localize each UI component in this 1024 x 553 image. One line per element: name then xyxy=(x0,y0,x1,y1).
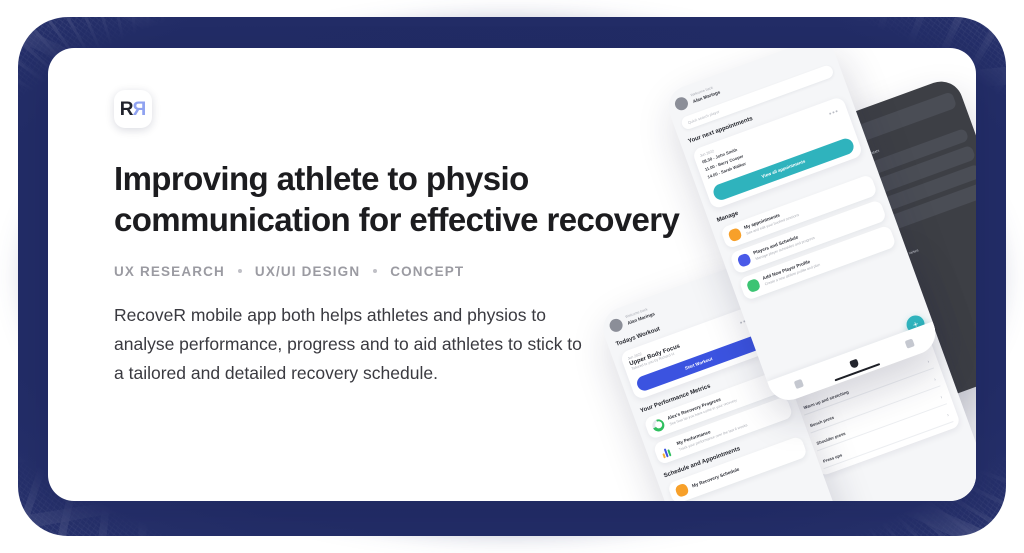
chevron-right-icon: › xyxy=(933,377,937,383)
project-description: RecoveR mobile app both helps athletes a… xyxy=(114,301,584,388)
recover-logo[interactable]: RR xyxy=(114,90,152,128)
copy-column: RR Improving athlete to physio communica… xyxy=(114,90,734,388)
profile-icon[interactable] xyxy=(904,339,914,349)
chat-icon[interactable] xyxy=(794,379,804,389)
logo-letter-left: R xyxy=(120,100,133,119)
progress-ring-icon xyxy=(651,418,666,433)
chevron-right-icon: › xyxy=(940,395,944,401)
tag-list: UX RESEARCH UX/UI DESIGN CONCEPT xyxy=(114,264,734,279)
players-icon xyxy=(737,253,752,268)
tag-concept: CONCEPT xyxy=(390,264,464,279)
tag-ux-ui-design: UX/UI DESIGN xyxy=(255,264,360,279)
exercise-label: Shoulder press xyxy=(816,431,846,446)
tag-ux-research: UX RESEARCH xyxy=(114,264,225,279)
list-item-label: My Recovery Schedule xyxy=(691,466,740,490)
home-icon[interactable] xyxy=(849,359,859,369)
exercise-label: Press ups xyxy=(822,452,843,464)
logo-letter-right-mirrored: R xyxy=(133,100,146,119)
page-title: Improving athlete to physio communicatio… xyxy=(114,159,714,241)
chevron-right-icon: › xyxy=(927,359,931,365)
bar-chart-icon xyxy=(660,443,675,458)
screenshot-stage: Upper Body Your Recovery Compare your we… xyxy=(0,0,1024,553)
exercise-label: Bench press xyxy=(809,414,834,427)
tag-separator-dot xyxy=(238,269,242,273)
tag-separator-dot xyxy=(373,269,377,273)
add-player-icon xyxy=(746,278,761,293)
calendar-icon xyxy=(674,483,689,498)
chevron-right-icon: › xyxy=(946,412,950,418)
project-card: Upper Body Your Recovery Compare your we… xyxy=(48,48,976,501)
